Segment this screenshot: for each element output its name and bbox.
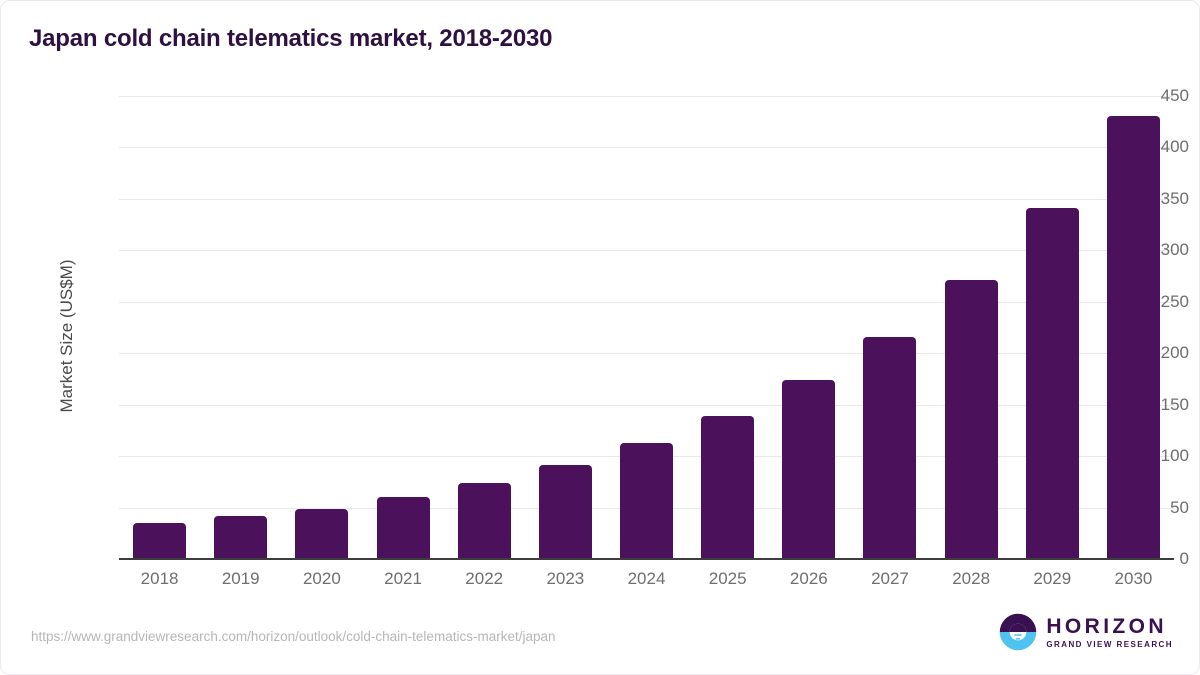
x-axis-tick-label: 2023 (525, 569, 606, 589)
x-axis-tick-label: 2018 (119, 569, 200, 589)
bar-slot (200, 96, 281, 559)
bar-2028[interactable] (945, 280, 998, 559)
y-axis-tick-label: 100 (1161, 446, 1189, 466)
sunset-circle-icon (999, 613, 1037, 651)
chart-page: Japan cold chain telematics market, 2018… (0, 0, 1200, 675)
logo-text: HORIZON GRAND VIEW RESEARCH (1046, 616, 1173, 649)
x-axis-tick-label: 2025 (687, 569, 768, 589)
y-axis-tick-label: 450 (1161, 86, 1189, 106)
x-axis-tick-label: 2021 (362, 569, 443, 589)
bar-slot (525, 96, 606, 559)
x-axis-tick-label: 2029 (1012, 569, 1093, 589)
bar-2024[interactable] (620, 443, 673, 559)
bar-slot (606, 96, 687, 559)
horizon-logo: HORIZON GRAND VIEW RESEARCH (999, 613, 1173, 651)
y-axis-tick-label: 250 (1161, 292, 1189, 312)
bar-slot (444, 96, 525, 559)
bar-2019[interactable] (214, 516, 267, 559)
bar-2022[interactable] (458, 483, 511, 559)
bar-slot (849, 96, 930, 559)
bar-2021[interactable] (377, 497, 430, 559)
bar-2018[interactable] (133, 523, 186, 559)
bar-slot (687, 96, 768, 559)
x-axis-tick-label: 2019 (200, 569, 281, 589)
x-axis-tick-label: 2022 (444, 569, 525, 589)
x-axis-line (119, 558, 1174, 560)
x-axis-labels: 2018201920202021202220232024202520262027… (119, 569, 1174, 589)
bar-2026[interactable] (782, 380, 835, 559)
bar-slot (119, 96, 200, 559)
logo-tagline: GRAND VIEW RESEARCH (1046, 641, 1173, 649)
y-axis-tick-label: 200 (1161, 343, 1189, 363)
x-axis-tick-label: 2020 (281, 569, 362, 589)
x-axis-tick-label: 2024 (606, 569, 687, 589)
logo-wordmark: HORIZON (1046, 616, 1173, 637)
bar-2020[interactable] (295, 509, 348, 559)
bar-slot (1093, 96, 1174, 559)
bar-slot (1012, 96, 1093, 559)
bar-series (119, 96, 1174, 559)
x-axis-tick-label: 2026 (768, 569, 849, 589)
bar-2030[interactable] (1107, 116, 1160, 559)
bar-2029[interactable] (1026, 208, 1079, 559)
y-axis-tick-label: 150 (1161, 395, 1189, 415)
y-axis-tick-label: 50 (1170, 498, 1189, 518)
y-axis: Market Size (US$M) (41, 96, 109, 559)
bar-slot (768, 96, 849, 559)
bar-2023[interactable] (539, 465, 592, 559)
y-axis-tick-label: 350 (1161, 189, 1189, 209)
y-axis-tick-label: 0 (1180, 549, 1189, 569)
bar-slot (281, 96, 362, 559)
x-axis-tick-label: 2030 (1093, 569, 1174, 589)
y-axis-title: Market Size (US$M) (57, 146, 77, 526)
y-axis-tick-label: 400 (1161, 137, 1189, 157)
bar-slot (362, 96, 443, 559)
page-title: Japan cold chain telematics market, 2018… (29, 25, 552, 53)
y-axis-tick-label: 300 (1161, 240, 1189, 260)
bar-2027[interactable] (863, 337, 916, 559)
bar-2025[interactable] (701, 416, 754, 559)
bar-slot (931, 96, 1012, 559)
x-axis-tick-label: 2028 (931, 569, 1012, 589)
source-url[interactable]: https://www.grandviewresearch.com/horizo… (31, 629, 555, 644)
plot-area (119, 96, 1174, 559)
x-axis-tick-label: 2027 (849, 569, 930, 589)
